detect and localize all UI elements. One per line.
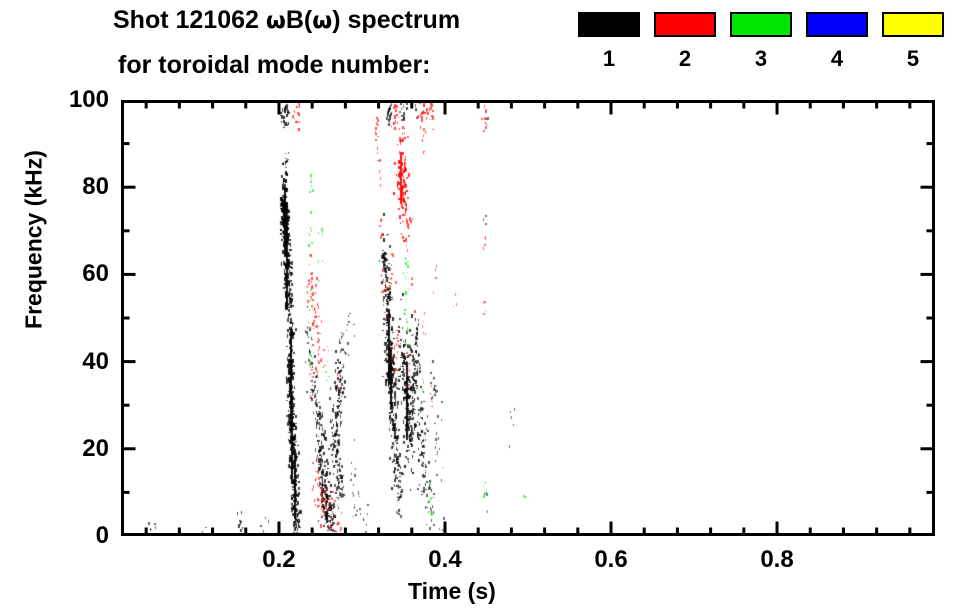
y-tick-label-40: 40	[39, 350, 109, 374]
y-tick-label-80: 80	[39, 175, 109, 199]
x-tick-label-0.2: 0.2	[234, 548, 324, 572]
y-tick-label-20: 20	[39, 437, 109, 461]
x-tick-label-0.4: 0.4	[400, 548, 490, 572]
y-tick-label-60: 60	[39, 262, 109, 286]
title-spectrum-text: ) spectrum	[332, 6, 460, 34]
legend-label-2: 2	[654, 48, 716, 70]
page-title-line-2: for toroidal mode number:	[118, 53, 431, 78]
legend-swatch-4	[806, 12, 868, 37]
y-tick-label-100: 100	[39, 88, 109, 112]
legend-entry-1[interactable]: 1	[578, 12, 642, 90]
page-title-line-1: Shot 121062 ωB(ω) spectrum	[113, 8, 460, 34]
spectrum-plot-page: Shot 121062 ωB(ω) spectrum for toroidal …	[0, 0, 963, 615]
legend-swatch-2	[654, 12, 716, 37]
legend-entry-3[interactable]: 3	[730, 12, 794, 90]
omega-symbol-1: ω	[266, 8, 286, 34]
legend-label-5: 5	[882, 48, 944, 70]
legend: 12345	[578, 12, 958, 90]
legend-label-3: 3	[730, 48, 792, 70]
legend-label-4: 4	[806, 48, 868, 70]
omega-symbol-2: ω	[312, 8, 332, 34]
legend-entry-5[interactable]: 5	[882, 12, 946, 90]
legend-swatch-3	[730, 12, 792, 37]
legend-entry-2[interactable]: 2	[654, 12, 718, 90]
legend-swatch-1	[578, 12, 640, 37]
x-tick-label-0.6: 0.6	[566, 548, 656, 572]
title-b-text: B(	[286, 6, 312, 34]
legend-label-1: 1	[578, 48, 640, 70]
title-shot-text: Shot 121062	[113, 6, 266, 34]
y-tick-label-0: 0	[39, 524, 109, 548]
legend-swatch-5	[882, 12, 944, 37]
plot-axes-svg	[121, 100, 935, 536]
x-tick-label-0.8: 0.8	[732, 548, 822, 572]
x-axis-label: Time (s)	[408, 580, 496, 603]
plot-area	[121, 100, 935, 536]
legend-entry-4[interactable]: 4	[806, 12, 870, 90]
